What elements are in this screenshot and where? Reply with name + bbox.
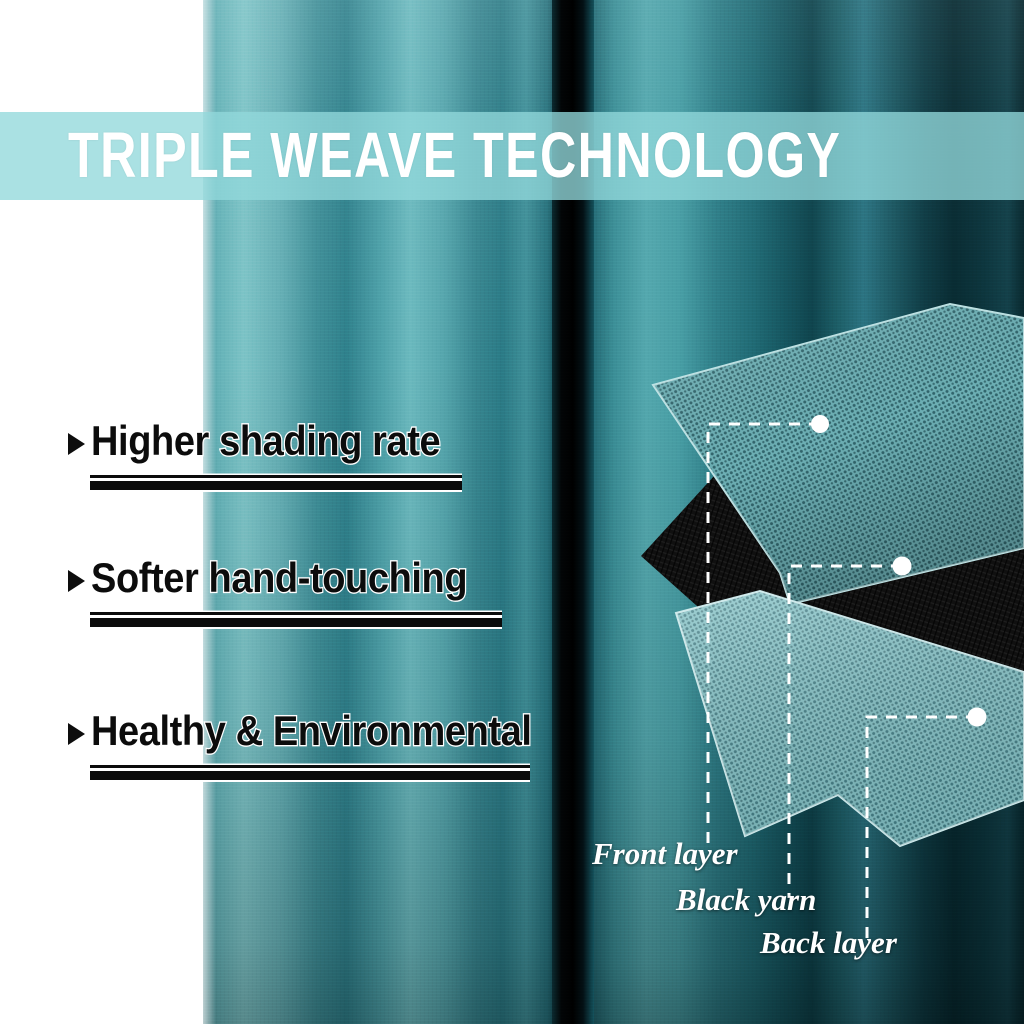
callout-label-back-layer: Back layer bbox=[760, 925, 897, 961]
diagram-callout-labels: Front layer Black yarn Back layer bbox=[0, 0, 1024, 1024]
callout-label-front-layer: Front layer bbox=[592, 836, 738, 872]
product-feature-image: Front layer Black yarn Back layer TRIPLE… bbox=[0, 0, 1024, 1024]
callout-label-black-yarn: Black yarn bbox=[676, 882, 816, 918]
